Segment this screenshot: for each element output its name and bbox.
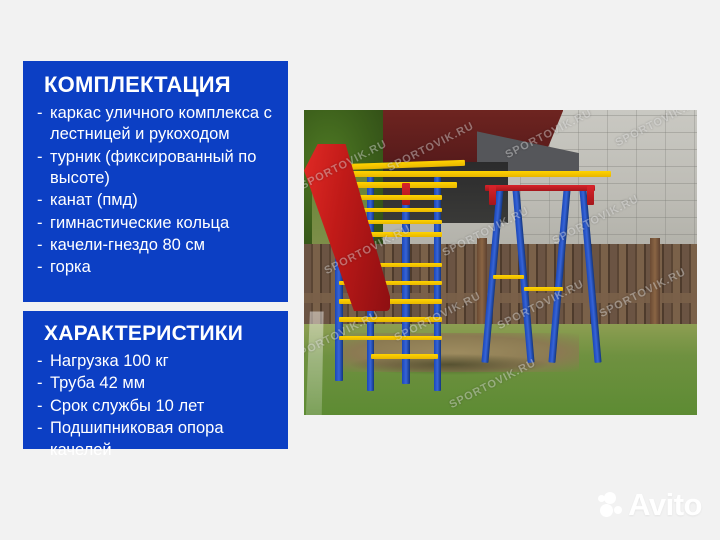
- bullet-dash: -: [37, 418, 43, 439]
- ladder-rung: [371, 354, 438, 359]
- list-item-label: горка: [50, 258, 91, 276]
- frame-accent: [489, 186, 496, 204]
- list-item: -канат (пмд): [37, 190, 276, 211]
- ladder-rung: [339, 317, 441, 322]
- avito-watermark: Avito: [598, 489, 702, 520]
- list-item: -гимнастические кольца: [37, 213, 276, 234]
- list-item-label: Срок службы 10 лет: [50, 397, 204, 415]
- list-item: -турник (фиксированный по высоте): [37, 147, 276, 190]
- list-item: -Срок службы 10 лет: [37, 396, 276, 417]
- list-item: -Нагрузка 100 кг: [37, 351, 276, 372]
- frame-accent: [402, 183, 409, 204]
- list-item-label: гимнастические кольца: [50, 214, 229, 232]
- frame-accent: [587, 186, 594, 204]
- bullet-dash: -: [37, 103, 43, 124]
- list-item-label: Труба 42 мм: [50, 374, 145, 392]
- top-rail: [328, 171, 611, 177]
- list-item-label: качели-гнездо 80 см: [50, 236, 205, 254]
- product-photo[interactable]: SPORTOVIK.RU SPORTOVIK.RU SPORTOVIK.RU S…: [304, 110, 697, 415]
- avito-brand-label: Avito: [628, 489, 702, 520]
- equipment-panel: КОМПЛЕКТАЦИЯ -каркас уличного комплекса …: [23, 61, 288, 302]
- photo-fence-post: [650, 238, 660, 336]
- bullet-dash: -: [37, 257, 43, 278]
- swing-cross-rung: [524, 287, 563, 292]
- specs-list: -Нагрузка 100 кг -Труба 42 мм -Срок служ…: [37, 351, 276, 461]
- bullet-dash: -: [37, 235, 43, 256]
- equipment-list: -каркас уличного комплекса с лестницей и…: [37, 103, 276, 278]
- list-item: -Труба 42 мм: [37, 373, 276, 394]
- bullet-dash: -: [37, 190, 43, 211]
- list-item: -Подшипниковая опора качелей: [37, 418, 276, 461]
- ladder-rung: [339, 336, 441, 341]
- list-item: -горка: [37, 257, 276, 278]
- list-item: -качели-гнездо 80 см: [37, 235, 276, 256]
- list-item-label: Подшипниковая опора качелей: [50, 419, 224, 458]
- avito-dots-icon: [598, 492, 624, 518]
- equipment-panel-title: КОМПЛЕКТАЦИЯ: [44, 73, 276, 96]
- list-item-label: Нагрузка 100 кг: [50, 352, 169, 370]
- specs-panel-title: ХАРАКТЕРИСТИКИ: [44, 323, 276, 345]
- bullet-dash: -: [37, 351, 43, 372]
- swing-cross-rung: [493, 275, 524, 280]
- specs-panel: ХАРАКТЕРИСТИКИ -Нагрузка 100 кг -Труба 4…: [23, 311, 288, 449]
- bullet-dash: -: [37, 373, 43, 394]
- listing-image-canvas: КОМПЛЕКТАЦИЯ -каркас уличного комплекса …: [0, 0, 720, 540]
- list-item-label: канат (пмд): [50, 191, 138, 209]
- bullet-dash: -: [37, 147, 43, 168]
- bullet-dash: -: [37, 396, 43, 417]
- list-item: -каркас уличного комплекса с лестницей и…: [37, 103, 276, 146]
- swing-top-rail: [485, 185, 595, 191]
- bullet-dash: -: [37, 213, 43, 234]
- list-item-label: каркас уличного комплекса с лестницей и …: [50, 104, 272, 143]
- list-item-label: турник (фиксированный по высоте): [50, 148, 256, 187]
